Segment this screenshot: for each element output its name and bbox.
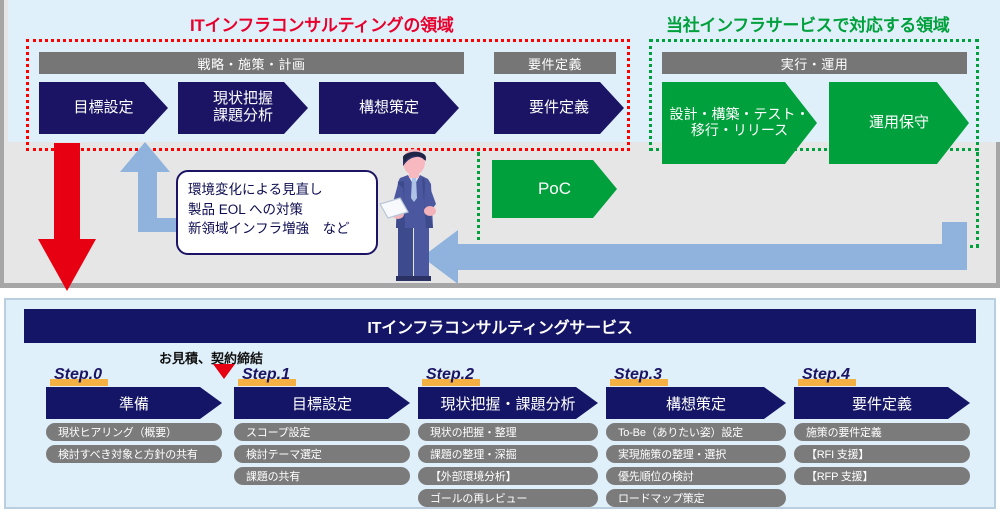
step-column-4: Step.4 要件定義 施策の要件定義 【RFI 支援】 【RFP 支援】 <box>794 366 970 485</box>
phase-design-build-test: 設計・構築・テスト・ 移行・リリース <box>662 82 817 164</box>
phase-current-analysis: 現状把握 課題分析 <box>178 82 308 134</box>
phase-requirement-definition-label: 要件定義 <box>529 100 589 117</box>
blue-return-arrow-icon <box>422 222 967 292</box>
step-column-2: Step.2 現状把握・課題分析 現状の把握・整理 課題の整理・深掘 【外部環境… <box>418 366 598 507</box>
phase-design-line2: 移行・リリース <box>691 122 788 138</box>
phase-current-analysis-line2: 課題分析 <box>213 107 273 124</box>
step-1-title[interactable]: 目標設定 <box>234 387 410 419</box>
issues-callout-bubble: 環境変化による見直し 製品 EOL への対策 新領域インフラ増強 など <box>176 170 378 255</box>
step-0-item-1[interactable]: 検討すべき対象と方針の共有 <box>46 445 222 463</box>
businessman-illustration <box>378 148 448 282</box>
step-3-label: Step.3 <box>610 366 668 383</box>
phase-concept-planning: 構想策定 <box>319 82 459 134</box>
step-0-label: Step.0 <box>50 366 108 383</box>
step-3-item-2[interactable]: 優先順位の検討 <box>606 467 786 485</box>
step-2-title[interactable]: 現状把握・課題分析 <box>418 387 598 419</box>
phase-goal-setting: 目標設定 <box>39 82 168 134</box>
step-3-title[interactable]: 構想策定 <box>606 387 786 419</box>
step-4-item-0[interactable]: 施策の要件定義 <box>794 423 970 441</box>
category-execution: 実行・運用 <box>662 52 967 74</box>
diagram-canvas: ITインフラコンサルティングの領域 当社インフラサービスで対応する領域 戦略・施… <box>0 0 1000 513</box>
step-column-0: Step.0 準備 現状ヒアリング（概要） 検討すべき対象と方針の共有 <box>46 366 222 463</box>
phase-design-line1: 設計・構築・テスト・ <box>670 106 810 122</box>
step-2-item-1[interactable]: 課題の整理・深掘 <box>418 445 598 463</box>
service-banner: ITインフラコンサルティングサービス <box>24 309 976 343</box>
step-0-title[interactable]: 準備 <box>46 387 222 419</box>
step-3-item-1[interactable]: 実現施策の整理・選択 <box>606 445 786 463</box>
phase-current-analysis-line1: 現状把握 <box>213 90 273 107</box>
step-3-item-3[interactable]: ロードマップ策定 <box>606 489 786 507</box>
step-column-1: Step.1 目標設定 スコープ設定 検討テーマ選定 課題の共有 <box>234 366 410 485</box>
step-2-item-3[interactable]: ゴールの再レビュー <box>418 489 598 507</box>
step-4-item-2[interactable]: 【RFP 支援】 <box>794 467 970 485</box>
phase-current-analysis-label: 現状把握 課題分析 <box>213 91 273 125</box>
step-3-label-wrap: Step.3 <box>610 366 786 384</box>
quote-contract-note: お見積、契約締結 <box>159 348 263 367</box>
step-1-item-1[interactable]: 検討テーマ選定 <box>234 445 410 463</box>
category-strategy: 戦略・施策・計画 <box>39 52 464 74</box>
step-1-label-wrap: Step.1 <box>238 366 410 384</box>
step-0-item-0[interactable]: 現状ヒアリング（概要） <box>46 423 222 441</box>
step-2-label: Step.2 <box>422 366 480 383</box>
step-2-item-2[interactable]: 【外部環境分析】 <box>418 467 598 485</box>
step-4-label: Step.4 <box>798 366 856 383</box>
category-requirement: 要件定義 <box>494 52 616 74</box>
top-panel: ITインフラコンサルティングの領域 当社インフラサービスで対応する領域 戦略・施… <box>0 0 1000 288</box>
step-4-item-1[interactable]: 【RFI 支援】 <box>794 445 970 463</box>
red-down-arrow-icon <box>36 143 98 291</box>
step-1-item-0[interactable]: スコープ設定 <box>234 423 410 441</box>
phase-operations-maintenance-label: 運用保守 <box>869 115 929 132</box>
bubble-line-2: 製品 EOL への対策 <box>188 200 370 220</box>
step-3-item-0[interactable]: To-Be（ありたい姿）設定 <box>606 423 786 441</box>
step-1-item-2[interactable]: 課題の共有 <box>234 467 410 485</box>
phase-design-build-test-label: 設計・構築・テスト・ 移行・リリース <box>670 107 810 138</box>
phase-goal-setting-label: 目標設定 <box>73 100 133 117</box>
bubble-line-3: 新領域インフラ増強 など <box>188 219 370 239</box>
consulting-scope-title: ITインフラコンサルティングの領域 <box>190 11 453 36</box>
step-4-label-wrap: Step.4 <box>798 366 970 384</box>
step-column-3: Step.3 構想策定 To-Be（ありたい姿）設定 実現施策の整理・選択 優先… <box>606 366 786 507</box>
phase-requirement-definition: 要件定義 <box>494 82 624 134</box>
step-1-label: Step.1 <box>238 366 296 383</box>
step-4-title[interactable]: 要件定義 <box>794 387 970 419</box>
step-0-label-wrap: Step.0 <box>50 366 222 384</box>
step-2-label-wrap: Step.2 <box>422 366 598 384</box>
phase-poc: PoC <box>492 160 617 218</box>
bottom-panel: ITインフラコンサルティングサービス お見積、契約締結 Step.0 準備 現状… <box>4 298 996 509</box>
phase-poc-label: PoC <box>538 179 571 198</box>
service-scope-title: 当社インフラサービスで対応する領域 <box>666 11 949 36</box>
step-2-item-0[interactable]: 現状の把握・整理 <box>418 423 598 441</box>
bubble-line-1: 環境変化による見直し <box>188 180 370 200</box>
phase-concept-planning-label: 構想策定 <box>359 100 419 117</box>
blue-up-arrow-icon <box>114 142 176 232</box>
